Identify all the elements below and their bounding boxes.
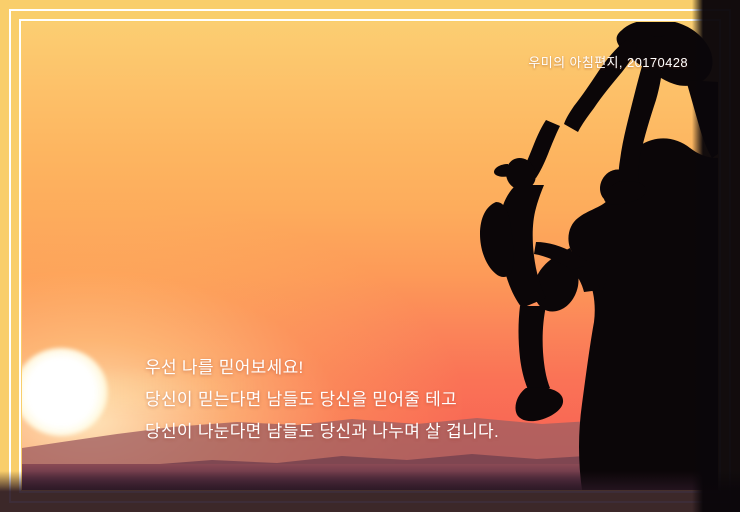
message-line-1: 우선 나를 믿어보세요! — [145, 352, 499, 384]
signature-date: 우미의 아침편지, 20170428 — [528, 52, 688, 71]
photo-area: 우선 나를 믿어보세요! 당신이 믿는다면 남들도 당신을 믿어줄 테고 당신이… — [22, 22, 718, 490]
postcard-canvas: 우선 나를 믿어보세요! 당신이 믿는다면 남들도 당신을 믿어줄 테고 당신이… — [0, 0, 740, 512]
message-line-3: 당신이 나눈다면 남들도 당신과 나누며 살 겁니다. — [145, 416, 499, 448]
message-line-2: 당신이 믿는다면 남들도 당신을 믿어줄 테고 — [145, 384, 499, 416]
message-block: 우선 나를 믿어보세요! 당신이 믿는다면 남들도 당신을 믿어줄 테고 당신이… — [145, 352, 499, 448]
